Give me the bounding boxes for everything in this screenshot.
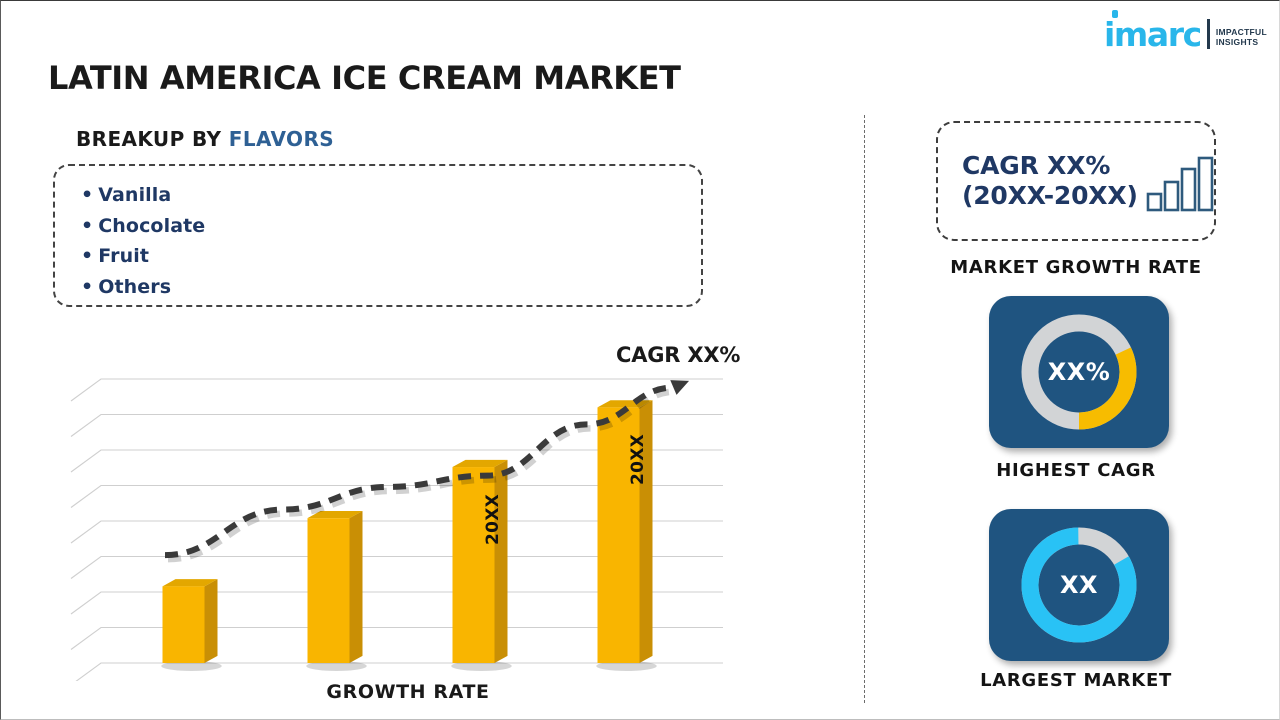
flavors-list-box: •Vanilla •Chocolate •Fruit •Others — [53, 164, 703, 307]
bar-chart-icon — [1146, 156, 1214, 212]
cagr-line2: (20XX-20XX) — [962, 181, 1138, 212]
logo-wordmark: imarc — [1104, 18, 1201, 51]
imarc-logo: imarc IMPACTFUL INSIGHTS — [1104, 11, 1267, 51]
bar-label: 20XX — [628, 434, 648, 485]
logo-divider-bar — [1207, 19, 1210, 49]
page-title: LATIN AMERICA ICE CREAM MARKET — [48, 59, 681, 97]
largest-market-caption: LARGEST MARKET — [926, 670, 1226, 691]
list-item-label: Chocolate — [98, 215, 205, 237]
list-item: •Others — [81, 272, 701, 303]
logo-dot-icon — [1112, 10, 1118, 18]
chart-trendline — [63, 331, 753, 681]
logo-tagline: IMPACTFUL INSIGHTS — [1216, 27, 1267, 51]
subtitle-highlight: FLAVORS — [229, 127, 334, 151]
bar-label: 20XX — [483, 494, 503, 545]
highest-cagr-card: XX% — [989, 296, 1169, 448]
bullet-icon: • — [81, 276, 93, 298]
logo-tagline-line1: IMPACTFUL — [1216, 27, 1267, 38]
bullet-icon: • — [81, 215, 93, 237]
vertical-divider — [864, 115, 865, 703]
largest-market-value: XX — [989, 509, 1169, 661]
chart-cagr-annotation: CAGR XX% — [616, 343, 740, 367]
section-subtitle: BREAKUP BY FLAVORS — [76, 127, 334, 151]
chart-xaxis-label: GROWTH RATE — [63, 681, 753, 703]
infographic-page: imarc IMPACTFUL INSIGHTS LATIN AMERICA I… — [0, 0, 1280, 720]
highest-cagr-value: XX% — [989, 296, 1169, 448]
list-item-label: Fruit — [98, 245, 149, 267]
cagr-summary-text: CAGR XX% (20XX-20XX) — [962, 151, 1138, 212]
logo-word-text: imarc — [1104, 15, 1201, 54]
growth-rate-chart: CAGR XX% GROWTH RATE 20XX20XX — [63, 331, 753, 720]
largest-market-card: XX — [989, 509, 1169, 661]
cagr-summary-box: CAGR XX% (20XX-20XX) — [936, 121, 1216, 241]
bullet-icon: • — [81, 184, 93, 206]
list-item: •Fruit — [81, 241, 701, 272]
bullet-icon: • — [81, 245, 93, 267]
highest-cagr-caption: HIGHEST CAGR — [926, 460, 1226, 481]
logo-tagline-line2: INSIGHTS — [1216, 37, 1267, 48]
list-item: •Chocolate — [81, 211, 701, 242]
market-growth-rate-caption: MARKET GROWTH RATE — [926, 257, 1226, 278]
list-item-label: Others — [98, 276, 171, 298]
subtitle-prefix: BREAKUP BY — [76, 127, 229, 151]
cagr-line1: CAGR XX% — [962, 151, 1138, 182]
list-item-label: Vanilla — [98, 184, 171, 206]
list-item: •Vanilla — [81, 180, 701, 211]
